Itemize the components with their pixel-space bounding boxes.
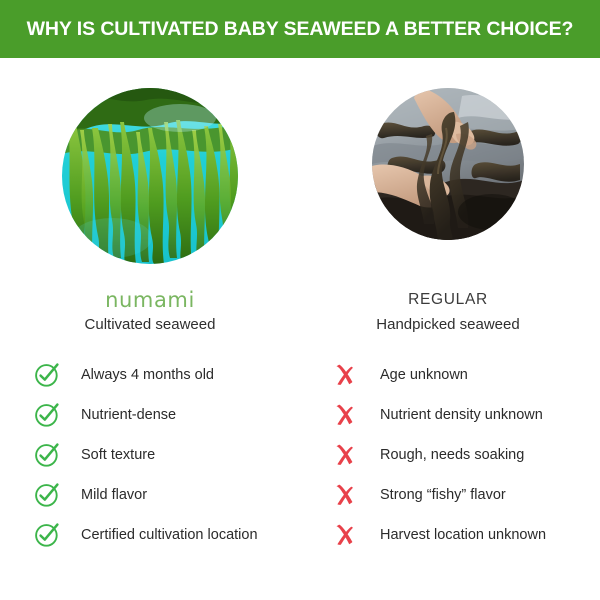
list-item: Soft texture [33,435,303,475]
column-heading-cultivated: numami Cultivated seaweed [40,288,260,336]
check-circle-icon [33,521,61,549]
list-item: Strong “fishy” flavor [330,475,592,515]
list-item-label: Always 4 months old [81,366,214,384]
list-item-label: Mild flavor [81,486,147,504]
list-item-label: Soft texture [81,446,155,464]
list-item-label: Rough, needs soaking [380,446,524,464]
list-item: Rough, needs soaking [330,435,592,475]
cultivated-seaweed-illustration [62,88,238,264]
list-item-label: Strong “fishy” flavor [380,486,506,504]
header-banner: WHY IS CULTIVATED BABY SEAWEED A BETTER … [0,0,600,58]
handpicked-seaweed-illustration [372,88,524,240]
list-item: Harvest location unknown [330,515,592,555]
regular-label: REGULAR [348,288,548,312]
column-heading-regular: REGULAR Handpicked seaweed [348,288,548,336]
list-item: Nutrient density unknown [330,395,592,435]
list-item: Mild flavor [33,475,303,515]
check-circle-icon [33,401,61,429]
check-circle-icon [33,361,61,389]
list-item: Always 4 months old [33,355,303,395]
check-circle-icon [33,481,61,509]
check-circle-icon [33,441,61,469]
cross-mark-icon [330,521,358,549]
drawbacks-list-regular: Age unknown Nutrient density unknown Rou… [330,355,592,555]
list-item-label: Nutrient-dense [81,406,176,424]
cultivated-seaweed-photo [62,88,238,264]
list-item: Certified cultivation location [33,515,303,555]
list-item-label: Nutrient density unknown [380,406,543,424]
page-title: WHY IS CULTIVATED BABY SEAWEED A BETTER … [27,18,574,41]
list-item-label: Certified cultivation location [81,526,258,544]
handpicked-seaweed-photo [372,88,524,240]
infographic-root: WHY IS CULTIVATED BABY SEAWEED A BETTER … [0,0,600,600]
list-item-label: Age unknown [380,366,468,384]
cross-mark-icon [330,441,358,469]
cultivated-subtitle: Cultivated seaweed [40,314,260,336]
regular-subtitle: Handpicked seaweed [348,314,548,336]
cross-mark-icon [330,401,358,429]
list-item: Age unknown [330,355,592,395]
benefits-list-cultivated: Always 4 months old Nutrient-dense Soft … [33,355,303,555]
cross-mark-icon [330,361,358,389]
cross-mark-icon [330,481,358,509]
numami-brand-logo: numami [40,288,260,312]
list-item: Nutrient-dense [33,395,303,435]
list-item-label: Harvest location unknown [380,526,546,544]
